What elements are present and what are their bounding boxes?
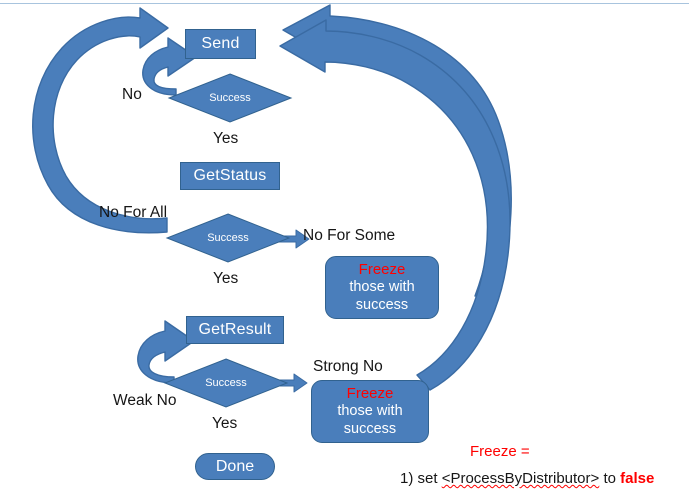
legend-item-variable: <ProcessByDistributor> xyxy=(442,470,600,487)
node-done[interactable]: Done xyxy=(195,453,275,480)
node-success-getresult[interactable]: Success xyxy=(164,358,288,408)
diamond-shape-2 xyxy=(166,213,290,263)
node-getstatus-label: GetStatus xyxy=(194,167,267,185)
edge-label-weak-no: Weak No xyxy=(113,392,176,410)
node-freeze-lower[interactable]: Freeze those with success xyxy=(311,380,429,443)
diamond-shape-1 xyxy=(168,73,292,123)
diamond-shape-3 xyxy=(164,358,288,408)
edge-label-yes-getresult: Yes xyxy=(212,415,237,433)
edge-label-no-for-some: No For Some xyxy=(303,227,395,245)
arrow-no-for-all xyxy=(33,8,168,233)
edge-label-strong-no: Strong No xyxy=(313,358,383,376)
node-send[interactable]: Send xyxy=(185,29,256,59)
node-getresult[interactable]: GetResult xyxy=(186,316,284,344)
node-done-label: Done xyxy=(216,458,254,476)
edge-label-no: No xyxy=(122,86,142,104)
arrow-return-lower xyxy=(280,20,510,390)
node-send-label: Send xyxy=(201,35,239,53)
legend-title: Freeze = xyxy=(470,443,530,460)
node-getresult-label: GetResult xyxy=(199,321,272,339)
node-success-send[interactable]: Success xyxy=(168,73,292,123)
node-freeze-lower-title: Freeze xyxy=(347,385,394,403)
edge-label-yes-getstatus: Yes xyxy=(213,270,238,288)
legend-item-1: 1) set <ProcessByDistributor> to false xyxy=(400,470,654,487)
node-getstatus[interactable]: GetStatus xyxy=(180,162,280,190)
node-freeze-upper-title: Freeze xyxy=(359,261,406,279)
edge-label-yes-send: Yes xyxy=(213,130,238,148)
legend-title-text: Freeze = xyxy=(470,443,530,460)
node-freeze-upper-line2: those with xyxy=(349,279,414,297)
node-freeze-upper-line3: success xyxy=(356,297,408,315)
top-divider-rule xyxy=(0,3,689,4)
flowchart-canvas: Send Success GetStatus Success Freeze th… xyxy=(0,0,689,502)
node-freeze-lower-line2: those with xyxy=(337,403,402,421)
legend-item-number: 1) xyxy=(400,470,413,487)
legend-item-value: false xyxy=(620,470,654,487)
node-success-getstatus[interactable]: Success xyxy=(166,213,290,263)
node-freeze-upper[interactable]: Freeze those with success xyxy=(325,256,439,319)
edge-label-no-for-all: No For All xyxy=(99,204,167,222)
node-freeze-lower-line3: success xyxy=(344,421,396,439)
legend-item-prefix: set xyxy=(418,470,438,487)
legend-item-middle: to xyxy=(603,470,616,487)
